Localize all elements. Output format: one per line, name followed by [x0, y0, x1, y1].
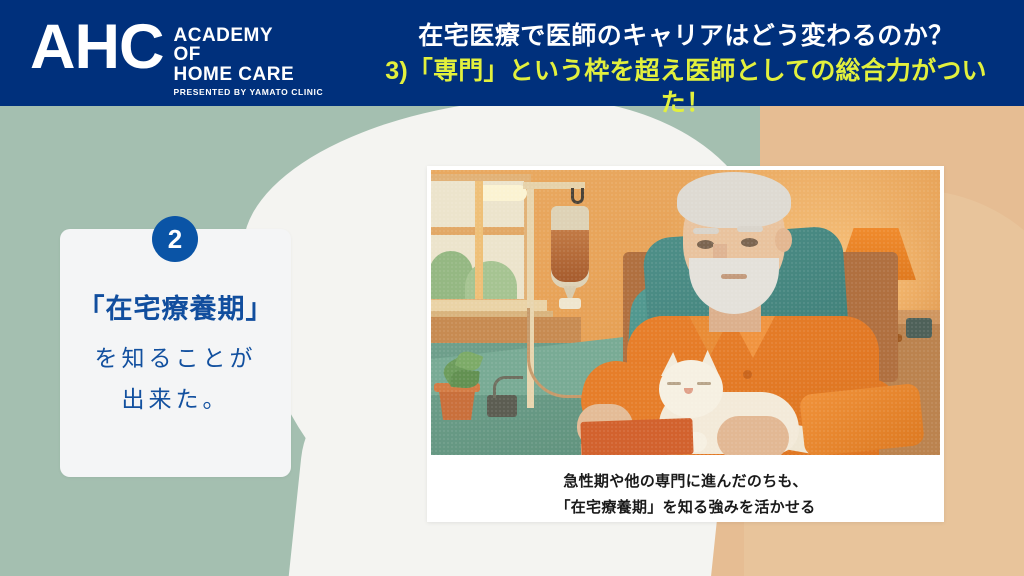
logo-line-of: OF: [174, 45, 324, 64]
caption-line-2: 「在宅療養期」を知る強みを活かせる: [431, 495, 940, 521]
illustration-caption: 急性期や他の専門に進んだのちも、 「在宅療養期」を知る強みを活かせる: [431, 455, 940, 520]
illustration-grain-overlay: [431, 170, 940, 455]
illustration-image: [431, 170, 940, 455]
point-card-headline: 「在宅療養期」: [78, 287, 274, 326]
header-title-block: 在宅医療で医師のキャリアはどう変わるのか？ 3)「専門」という枠を超え医師として…: [366, 20, 1006, 120]
header-title-secondary: 3)「専門」という枠を超え医師としての総合力がついた！: [366, 55, 1006, 120]
point-card[interactable]: 「在宅療養期」 を知ることが 出来た。: [60, 229, 291, 477]
logo-line-home-care: HOME CARE: [174, 65, 324, 84]
illustration-card: 急性期や他の専門に進んだのちも、 「在宅療養期」を知る強みを活かせる: [427, 166, 944, 522]
header-title-primary: 在宅医療で医師のキャリアはどう変わるのか？: [366, 20, 1006, 53]
point-card-body-line2: 出来た。: [95, 379, 257, 419]
point-card-body-line1: を知ることが: [95, 338, 257, 378]
brand-logo[interactable]: AHC ACADEMY OF HOME CARE PRESENTED BY YA…: [30, 22, 323, 97]
slide-canvas: AHC ACADEMY OF HOME CARE PRESENTED BY YA…: [0, 0, 1024, 576]
point-card-body: を知ることが 出来た。: [95, 338, 257, 419]
logo-tagline: PRESENTED BY YAMATO CLINIC: [174, 87, 324, 97]
header-bar: AHC ACADEMY OF HOME CARE PRESENTED BY YA…: [0, 0, 1024, 106]
caption-line-1: 急性期や他の専門に進んだのちも、: [431, 469, 940, 495]
logo-wordmark: ACADEMY OF HOME CARE PRESENTED BY YAMATO…: [174, 22, 324, 97]
logo-line-academy: ACADEMY: [174, 26, 324, 45]
logo-mark-ahc: AHC: [30, 22, 164, 74]
point-number-badge: 2: [152, 216, 198, 262]
